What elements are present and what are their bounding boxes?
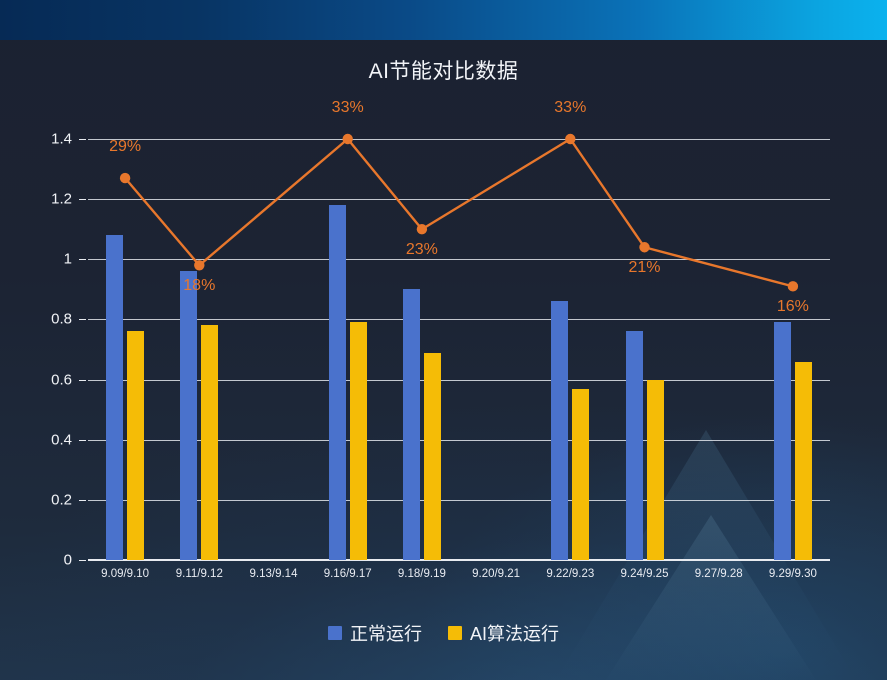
percent-label: 23% [406,241,438,259]
gridline [88,199,830,200]
x-axis-tick-label: 9.18/9.19 [398,568,446,580]
legend-swatch-icon [448,626,462,640]
x-axis-tick-label: 9.27/9.28 [695,568,743,580]
bar-ai [424,353,441,560]
percent-label: 33% [554,99,586,117]
chart-plot-area: 00.20.40.60.811.21.4 29%18%33%23%33%21%1… [88,139,830,560]
y-axis-tick [79,440,86,441]
x-axis-tick-label: 9.20/9.21 [472,568,520,580]
gridline [88,380,830,381]
y-axis-tick [79,319,86,320]
legend-swatch-icon [328,626,342,640]
y-axis-tick [79,259,86,260]
x-axis-line [88,559,830,561]
bar-ai [795,362,812,560]
bar-ai [572,389,589,560]
x-axis-tick-label: 9.13/9.14 [250,568,298,580]
bar-normal [403,289,420,560]
trend-line-point [639,242,649,252]
legend-label: AI算法运行 [470,620,559,646]
x-axis-tick-label: 9.09/9.10 [101,568,149,580]
trend-line-point [194,260,204,270]
y-axis-tick [79,380,86,381]
bar-normal [774,322,791,560]
trend-line-layer [88,114,830,560]
top-accent-strip [0,0,887,40]
x-axis-tick-label: 9.11/9.12 [176,568,223,580]
y-axis-tick-label: 0.4 [51,431,72,448]
y-axis-tick-label: 1.4 [51,131,72,148]
gridline [88,500,830,501]
percent-label: 29% [109,138,141,156]
x-axis-tick-label: 9.24/9.25 [621,568,669,580]
trend-line-path [125,139,793,286]
bar-ai [350,322,367,560]
chart-legend: 正常运行AI算法运行 [0,620,887,646]
gridline [88,319,830,320]
legend-item[interactable]: AI算法运行 [448,620,559,646]
trend-line-point [120,173,130,183]
bar-normal [329,205,346,560]
y-axis-tick-label: 1.2 [51,191,72,208]
y-axis-tick-label: 0.6 [51,371,72,388]
trend-line-point [788,281,798,291]
percent-label: 33% [332,99,364,117]
legend-label: 正常运行 [350,620,422,646]
legend-item[interactable]: 正常运行 [328,620,422,646]
gridline [88,440,830,441]
y-axis-tick-label: 0.2 [51,491,72,508]
y-axis-tick [79,560,86,561]
percent-label: 16% [777,298,809,316]
bar-ai [647,380,664,560]
y-axis-tick-label: 1 [64,251,72,268]
y-axis-tick [79,199,86,200]
y-axis-tick [79,139,86,140]
gridline [88,259,830,260]
bar-normal [626,331,643,560]
slide-canvas: AI节能对比数据 00.20.40.60.811.21.4 29%18%33%2… [0,0,887,680]
bar-normal [551,301,568,560]
y-axis-tick [79,500,86,501]
x-axis-tick-label: 9.29/9.30 [769,568,817,580]
percent-label: 21% [628,259,660,277]
trend-line-point [417,224,427,234]
bar-ai [127,331,144,560]
bar-normal [180,271,197,560]
bar-ai [201,325,218,560]
y-axis-tick-label: 0.8 [51,311,72,328]
x-axis-tick-label: 9.22/9.23 [546,568,594,580]
bar-normal [106,235,123,560]
percent-label: 18% [183,277,215,295]
x-axis-tick-label: 9.16/9.17 [324,568,372,580]
chart-title: AI节能对比数据 [0,55,887,85]
y-axis-tick-label: 0 [64,552,72,569]
gridline [88,139,830,140]
